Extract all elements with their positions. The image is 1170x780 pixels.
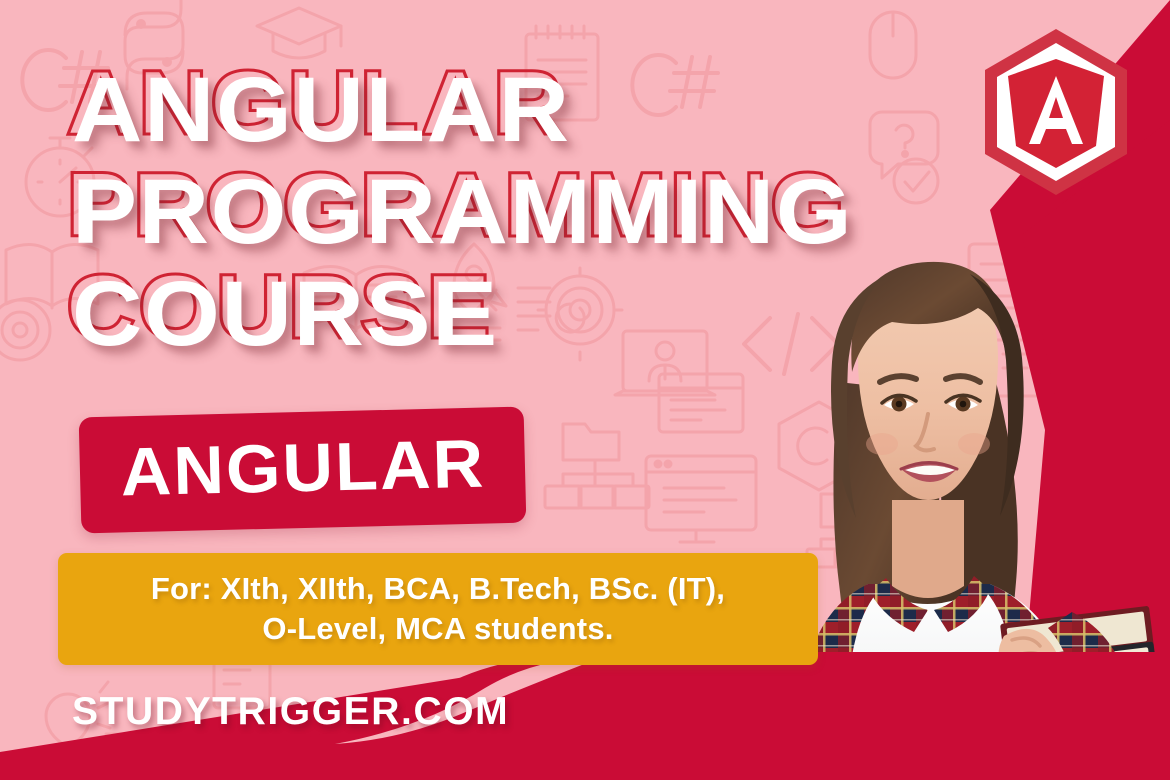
folder-tree-icon	[545, 424, 649, 508]
stopwatch-icon	[90, 734, 138, 780]
cpp-hexagon-icon	[779, 402, 871, 490]
audience-line-1: For: XIth, XIIth, BCA, B.Tech, BSc. (IT)…	[151, 569, 725, 609]
graduation-cap-icon	[257, 8, 341, 58]
page-title: ANGULAR PROGRAMMING COURSE	[72, 62, 972, 368]
folder-tree-icon	[807, 494, 893, 567]
target-icon	[0, 300, 50, 360]
monitor-code-icon	[646, 456, 756, 542]
angular-badge-label: ANGULAR	[119, 430, 485, 511]
headline-line-1: ANGULAR	[72, 62, 1026, 158]
angular-badge: ANGULAR	[79, 407, 527, 534]
headline-line-3: COURSE	[72, 266, 1026, 362]
headline-line-2: PROGRAMMING	[72, 164, 1026, 260]
website-url[interactable]: STUDYTRIGGER.COM	[72, 690, 509, 734]
audience-line-2: O-Level, MCA students.	[262, 609, 613, 649]
poster-canvas: ANGULAR PROGRAMMING COURSE ANGULAR For: …	[0, 0, 1170, 780]
browser-window-icon	[659, 374, 743, 432]
audience-banner: For: XIth, XIIth, BCA, B.Tech, BSc. (IT)…	[58, 553, 818, 665]
